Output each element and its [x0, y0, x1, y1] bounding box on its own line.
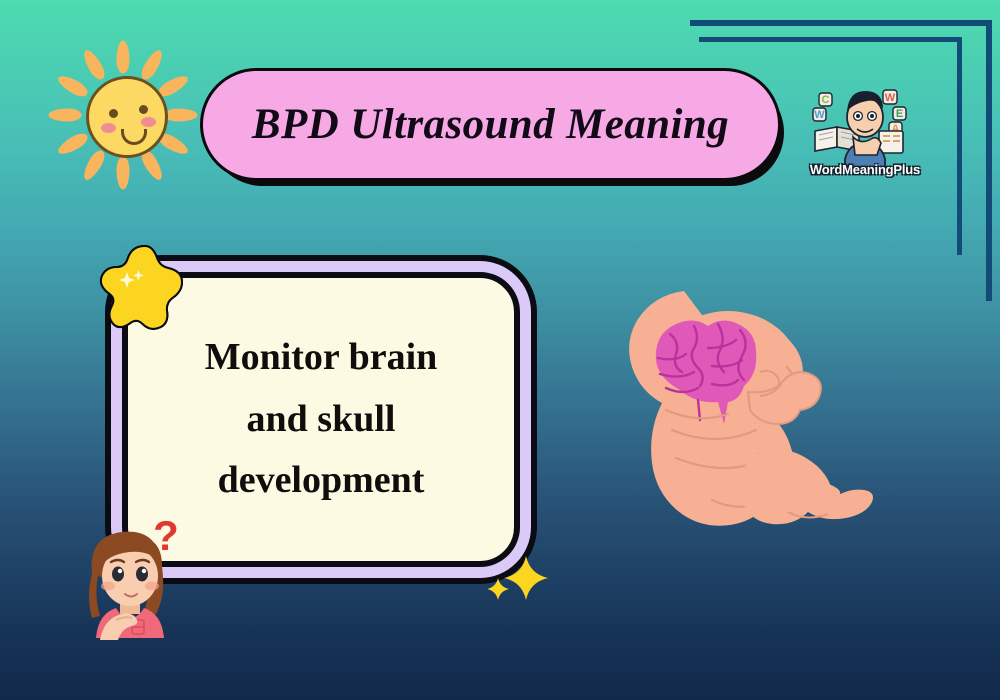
logo-wordmark: WordMeaningPlus [805, 162, 925, 177]
svg-text:W: W [885, 92, 896, 104]
svg-text:C: C [822, 94, 830, 106]
info-line-3: development [218, 459, 425, 501]
svg-text:E: E [896, 108, 903, 120]
poster-canvas: BPD Ultrasound Meaning C W W E A [0, 0, 1000, 700]
sun-icon [38, 32, 208, 197]
info-card-text: Monitor brain and skull development [185, 327, 458, 512]
star-icon [99, 240, 191, 332]
sun-face [86, 76, 168, 158]
info-line-1: Monitor brain [205, 336, 438, 378]
page-title: BPD Ultrasound Meaning [252, 100, 729, 149]
title-pill: BPD Ultrasound Meaning [200, 68, 781, 181]
info-line-2: and skull [247, 398, 396, 440]
thinking-girl-icon: ? [70, 516, 190, 646]
sparkle-icon [488, 552, 558, 612]
brand-logo[interactable]: C W W E A [805, 75, 925, 183]
svg-text:W: W [814, 109, 825, 121]
fetus-illustration [608, 288, 908, 588]
title-banner: BPD Ultrasound Meaning [200, 68, 785, 186]
